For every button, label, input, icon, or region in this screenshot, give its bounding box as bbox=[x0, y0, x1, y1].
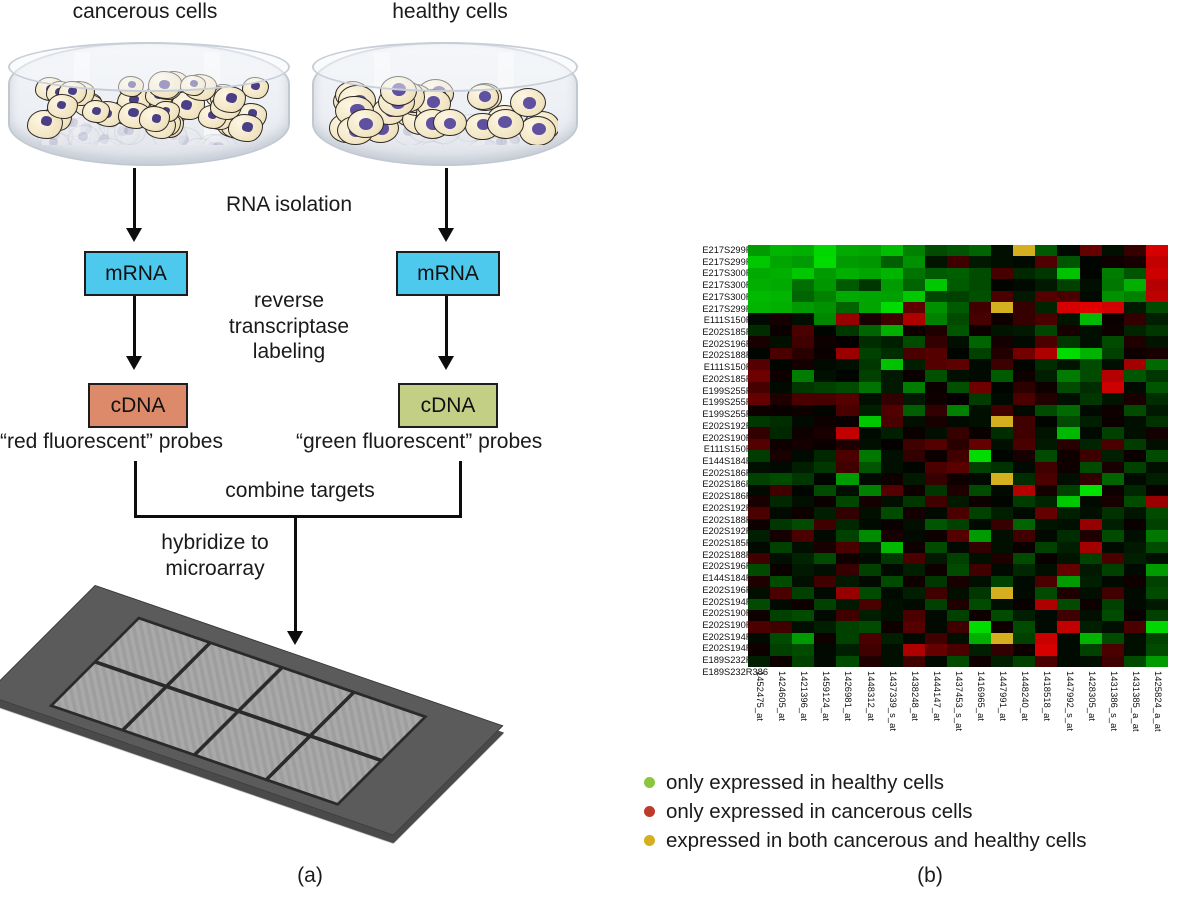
heatmap-cell bbox=[770, 621, 792, 632]
heatmap-cell bbox=[947, 336, 969, 347]
heatmap-cell bbox=[903, 291, 925, 302]
heatmap-cell bbox=[1013, 576, 1035, 587]
heatmap-cell bbox=[1080, 313, 1102, 324]
heatmap-column-label: 1425824_a_at bbox=[1153, 671, 1163, 732]
heatmap-cell bbox=[770, 279, 792, 290]
heatmap-cell bbox=[1080, 439, 1102, 450]
nucleus bbox=[128, 108, 139, 117]
heatmap-cell bbox=[814, 359, 836, 370]
cell bbox=[213, 86, 246, 113]
heatmap-cell bbox=[770, 496, 792, 507]
heatmap-cell bbox=[814, 245, 836, 256]
heatmap-cell bbox=[836, 576, 858, 587]
heatmap-cell bbox=[748, 633, 770, 644]
heatmap-cell bbox=[836, 291, 858, 302]
heatmap-cell bbox=[1124, 370, 1146, 381]
heatmap-cell bbox=[1057, 359, 1079, 370]
heatmap-cell bbox=[814, 256, 836, 267]
heatmap-cell bbox=[881, 370, 903, 381]
heatmap-cell bbox=[947, 553, 969, 564]
heatmap-cell bbox=[1146, 268, 1168, 279]
heatmap-cell bbox=[770, 393, 792, 404]
heatmap-cell bbox=[991, 245, 1013, 256]
heatmap-cell bbox=[991, 519, 1013, 530]
heatmap-cell bbox=[859, 370, 881, 381]
heatmap-cell bbox=[1057, 587, 1079, 598]
heatmap-cell bbox=[925, 416, 947, 427]
heatmap-cell bbox=[1146, 291, 1168, 302]
heatmap-cell bbox=[925, 313, 947, 324]
heatmap-cell bbox=[1057, 427, 1079, 438]
heatmap-cell bbox=[836, 462, 858, 473]
heatmap-cell bbox=[1124, 599, 1146, 610]
heatmap-cell bbox=[925, 496, 947, 507]
heatmap-cell bbox=[1124, 496, 1146, 507]
heatmap-cell bbox=[991, 336, 1013, 347]
heatmap-cell bbox=[748, 656, 770, 667]
heatmap-cell bbox=[1035, 496, 1057, 507]
heatmap-cell bbox=[881, 542, 903, 553]
nucleus bbox=[226, 93, 237, 102]
heatmap-cell bbox=[1146, 279, 1168, 290]
heatmap-cell bbox=[748, 439, 770, 450]
heatmap-cell bbox=[1080, 268, 1102, 279]
heatmap-cell bbox=[748, 485, 770, 496]
heatmap-cell bbox=[859, 439, 881, 450]
heatmap-cell bbox=[748, 599, 770, 610]
heatmap-cell bbox=[1057, 542, 1079, 553]
heatmap-cell bbox=[836, 450, 858, 461]
heatmap-cell bbox=[792, 439, 814, 450]
heatmap-cell bbox=[881, 336, 903, 347]
heatmap-cell bbox=[1124, 291, 1146, 302]
heatmap-cell bbox=[792, 519, 814, 530]
heatmap-cell bbox=[792, 485, 814, 496]
heatmap-cell bbox=[792, 542, 814, 553]
heatmap-cell bbox=[1013, 564, 1035, 575]
microarray-pad-grid bbox=[49, 617, 428, 806]
heatmap-cell bbox=[969, 576, 991, 587]
heatmap-cell bbox=[814, 496, 836, 507]
heatmap-cell bbox=[1102, 279, 1124, 290]
heatmap-cell bbox=[1057, 393, 1079, 404]
arrow-cancer-to-mrna bbox=[133, 168, 136, 230]
nucleus bbox=[41, 116, 52, 126]
heatmap-cell bbox=[814, 644, 836, 655]
heatmap-cell bbox=[836, 621, 858, 632]
heatmap-cell bbox=[969, 656, 991, 667]
heatmap-cell bbox=[925, 473, 947, 484]
heatmap-cell bbox=[1146, 564, 1168, 575]
microarray-slide-body bbox=[0, 585, 503, 836]
heatmap-cell bbox=[1146, 553, 1168, 564]
heatmap-cell bbox=[814, 462, 836, 473]
heatmap-cell bbox=[1080, 553, 1102, 564]
heatmap-cell bbox=[969, 485, 991, 496]
heatmap-cell bbox=[748, 359, 770, 370]
heatmap-cell bbox=[947, 633, 969, 644]
heatmap-cell bbox=[1146, 416, 1168, 427]
heatmap-cell bbox=[859, 245, 881, 256]
heatmap-cell bbox=[925, 633, 947, 644]
heatmap-cell bbox=[792, 473, 814, 484]
heatmap-cell bbox=[1035, 405, 1057, 416]
heatmap-cell bbox=[1035, 359, 1057, 370]
heatmap-cell bbox=[1124, 564, 1146, 575]
heatmap-column-label-slot: 1448240_at bbox=[1013, 669, 1035, 769]
heatmap-column-label: 1459124_at bbox=[821, 671, 831, 721]
heatmap-cell bbox=[859, 542, 881, 553]
heatmap-cell bbox=[1013, 530, 1035, 541]
heatmap-cell bbox=[881, 485, 903, 496]
heatmap-cell bbox=[1124, 462, 1146, 473]
cell bbox=[433, 109, 467, 137]
heatmap-cell bbox=[1035, 576, 1057, 587]
heatmap-cell bbox=[925, 405, 947, 416]
heatmap-cell bbox=[836, 256, 858, 267]
heatmap-cell bbox=[881, 656, 903, 667]
heatmap-cell bbox=[969, 587, 991, 598]
heatmap-cell bbox=[1124, 279, 1146, 290]
heatmap-cell bbox=[1057, 564, 1079, 575]
heatmap-cell bbox=[903, 439, 925, 450]
heatmap-cell bbox=[792, 621, 814, 632]
heatmap-column-label: 1418518_at bbox=[1042, 671, 1052, 721]
combine-bracket-right bbox=[459, 461, 462, 517]
rna-isolation-label: RNA isolation bbox=[194, 192, 384, 218]
heatmap-cell bbox=[1124, 256, 1146, 267]
heatmap-cell bbox=[1146, 245, 1168, 256]
heatmap-cell bbox=[1057, 382, 1079, 393]
heatmap-cell bbox=[925, 279, 947, 290]
heatmap-cell bbox=[814, 633, 836, 644]
heatmap-cell bbox=[991, 450, 1013, 461]
heatmap-cell bbox=[1102, 348, 1124, 359]
heatmap-cell bbox=[947, 485, 969, 496]
heatmap-cell bbox=[748, 382, 770, 393]
heatmap-cell bbox=[991, 496, 1013, 507]
heatmap-cell bbox=[770, 644, 792, 655]
heatmap-cell bbox=[1124, 473, 1146, 484]
cell bbox=[68, 125, 100, 146]
heatmap-cell bbox=[947, 359, 969, 370]
heatmap-cell bbox=[814, 656, 836, 667]
healthy-cells-label: healthy cells bbox=[330, 0, 570, 24]
nucleus bbox=[532, 123, 546, 135]
heatmap-cell bbox=[1102, 336, 1124, 347]
heatmap-cell bbox=[792, 382, 814, 393]
heatmap-cell bbox=[814, 530, 836, 541]
heatmap-cell bbox=[947, 325, 969, 336]
heatmap-cell bbox=[1124, 245, 1146, 256]
heatmap-cell bbox=[814, 473, 836, 484]
heatmap-cell bbox=[1080, 473, 1102, 484]
heatmap-cell bbox=[836, 416, 858, 427]
heatmap-cell bbox=[1035, 370, 1057, 381]
heatmap-cell bbox=[991, 427, 1013, 438]
heatmap-cell bbox=[859, 450, 881, 461]
heatmap-cell bbox=[925, 336, 947, 347]
heatmap-cell bbox=[1124, 519, 1146, 530]
heatmap-cell bbox=[903, 496, 925, 507]
heatmap-cell bbox=[1013, 462, 1035, 473]
heatmap-cell bbox=[1035, 256, 1057, 267]
heatmap-cell bbox=[836, 644, 858, 655]
heatmap-cell bbox=[814, 370, 836, 381]
heatmap-cell bbox=[836, 610, 858, 621]
nucleus bbox=[359, 118, 373, 130]
heatmap-cell bbox=[1035, 633, 1057, 644]
heatmap-cell bbox=[1013, 279, 1035, 290]
heatmap-cell bbox=[792, 610, 814, 621]
cell bbox=[519, 116, 556, 145]
heatmap-cell bbox=[792, 599, 814, 610]
heatmap-cell bbox=[991, 644, 1013, 655]
heatmap-column-label-slot: 1425824_a_at bbox=[1146, 669, 1168, 769]
heatmap-cell bbox=[836, 542, 858, 553]
heatmap-cell bbox=[1013, 416, 1035, 427]
heatmap-cell bbox=[991, 416, 1013, 427]
heatmap-column-label: 1448312_at bbox=[866, 671, 876, 721]
arrow-head bbox=[438, 356, 454, 370]
heatmap-cell bbox=[770, 485, 792, 496]
heatmap-cell bbox=[1124, 530, 1146, 541]
heatmap-cell bbox=[903, 370, 925, 381]
heatmap-cell bbox=[903, 473, 925, 484]
heatmap-cell bbox=[925, 256, 947, 267]
heatmap-cell bbox=[881, 359, 903, 370]
heatmap-column-label-slot: 1428305_at bbox=[1080, 669, 1102, 769]
heatmap-cell bbox=[1080, 359, 1102, 370]
heatmap-cell bbox=[881, 576, 903, 587]
heatmap-cell bbox=[792, 359, 814, 370]
heatmap-cell bbox=[947, 507, 969, 518]
heatmap-cell bbox=[836, 599, 858, 610]
heatmap-cell bbox=[1080, 302, 1102, 313]
heatmap-cell bbox=[1102, 485, 1124, 496]
heatmap-cell bbox=[969, 382, 991, 393]
heatmap-cell bbox=[1013, 507, 1035, 518]
heatmap-cell bbox=[792, 656, 814, 667]
heatmap-column-label: 1437339_s_at bbox=[888, 671, 898, 731]
heatmap-column-label-slot: 1452475_at bbox=[748, 669, 770, 769]
heatmap-cell bbox=[792, 633, 814, 644]
heatmap-cell bbox=[969, 496, 991, 507]
heatmap-cell bbox=[792, 268, 814, 279]
heatmap-cell bbox=[903, 256, 925, 267]
heatmap-cell bbox=[1080, 587, 1102, 598]
heatmap-cell bbox=[925, 519, 947, 530]
heatmap-cell bbox=[969, 473, 991, 484]
heatmap-cell bbox=[859, 633, 881, 644]
heatmap-cell bbox=[925, 507, 947, 518]
heatmap-column-label-slot: 1447992_s_at bbox=[1057, 669, 1079, 769]
heatmap-cell bbox=[770, 336, 792, 347]
heatmap-cell bbox=[881, 496, 903, 507]
petri-dish-cancerous bbox=[8, 42, 286, 162]
heatmap-cell bbox=[1080, 621, 1102, 632]
cell bbox=[47, 94, 77, 119]
heatmap-cell bbox=[925, 393, 947, 404]
heatmap-cell bbox=[770, 473, 792, 484]
heatmap-cell bbox=[814, 325, 836, 336]
heatmap-cell bbox=[947, 462, 969, 473]
heatmap-cell bbox=[1013, 427, 1035, 438]
heatmap-cell bbox=[1146, 427, 1168, 438]
heatmap-cell bbox=[903, 313, 925, 324]
heatmap-cell bbox=[836, 427, 858, 438]
heatmap-cell bbox=[925, 302, 947, 313]
heatmap-cell bbox=[792, 313, 814, 324]
heatmap-column-label-slot: 1448312_at bbox=[859, 669, 881, 769]
heatmap-cell bbox=[1124, 542, 1146, 553]
heatmap-cell bbox=[814, 553, 836, 564]
heatmap-cell bbox=[859, 268, 881, 279]
heatmap-cell bbox=[1035, 564, 1057, 575]
heatmap-column-label: 1431385_a_at bbox=[1131, 671, 1141, 732]
heatmap-cell bbox=[969, 302, 991, 313]
heatmap-cell bbox=[969, 507, 991, 518]
heatmap-cell bbox=[814, 405, 836, 416]
heatmap-cell bbox=[1080, 245, 1102, 256]
heatmap-cell bbox=[1080, 644, 1102, 655]
heatmap-cell bbox=[969, 256, 991, 267]
heatmap-cell bbox=[792, 450, 814, 461]
heatmap-cell bbox=[792, 462, 814, 473]
heatmap-cell bbox=[1080, 325, 1102, 336]
heatmap-cell bbox=[969, 439, 991, 450]
heatmap-cell bbox=[1035, 621, 1057, 632]
heatmap-cell bbox=[903, 359, 925, 370]
heatmap-cell bbox=[1057, 633, 1079, 644]
heatmap-cell bbox=[1057, 507, 1079, 518]
heatmap-cell bbox=[947, 496, 969, 507]
heatmap-cell bbox=[1146, 473, 1168, 484]
heatmap-cell bbox=[1080, 530, 1102, 541]
heatmap-cell bbox=[947, 427, 969, 438]
heatmap-cell bbox=[748, 462, 770, 473]
heatmap-cell bbox=[814, 336, 836, 347]
heatmap-cell bbox=[925, 245, 947, 256]
heatmap-cell bbox=[903, 656, 925, 667]
heatmap-cell bbox=[1124, 439, 1146, 450]
heatmap-panel: E217S299R783E217S299R784E217S300R787E217… bbox=[620, 0, 1192, 898]
heatmap-cell bbox=[859, 485, 881, 496]
heatmap-cell bbox=[1102, 370, 1124, 381]
heatmap-cell bbox=[1080, 485, 1102, 496]
heatmap-cell bbox=[792, 416, 814, 427]
heatmap-cell bbox=[859, 530, 881, 541]
heatmap-column-label: 1426981_at bbox=[843, 671, 853, 721]
heatmap-cell bbox=[969, 542, 991, 553]
heatmap-column-label: 1447992_s_at bbox=[1065, 671, 1075, 731]
nucleus bbox=[181, 100, 192, 110]
heatmap-cell bbox=[814, 302, 836, 313]
heatmap-cell bbox=[1080, 450, 1102, 461]
heatmap-cell bbox=[903, 576, 925, 587]
heatmap-cell bbox=[881, 427, 903, 438]
heatmap-cell bbox=[1013, 621, 1035, 632]
heatmap-cell bbox=[770, 576, 792, 587]
heatmap-cell bbox=[836, 313, 858, 324]
heatmap-cell bbox=[1080, 633, 1102, 644]
heatmap-cell bbox=[836, 587, 858, 598]
heatmap-cell bbox=[859, 507, 881, 518]
heatmap-cell bbox=[903, 644, 925, 655]
heatmap-cell bbox=[859, 576, 881, 587]
heatmap-cell bbox=[859, 564, 881, 575]
heatmap-cell bbox=[770, 427, 792, 438]
heatmap-cell bbox=[792, 348, 814, 359]
heatmap-column-label-slot: 1447991_at bbox=[991, 669, 1013, 769]
heatmap-cell bbox=[881, 279, 903, 290]
heatmap-cell bbox=[903, 599, 925, 610]
nucleus bbox=[427, 96, 440, 108]
heatmap-column-label-slot: 1438248_at bbox=[903, 669, 925, 769]
heatmap-cell bbox=[836, 302, 858, 313]
heatmap-cell bbox=[925, 348, 947, 359]
legend-item: only expressed in cancerous cells bbox=[644, 797, 1087, 826]
heatmap-column-label-slot: 1431386_s_at bbox=[1102, 669, 1124, 769]
heatmap-cell bbox=[925, 542, 947, 553]
heatmap-cell bbox=[1102, 302, 1124, 313]
heatmap-cell bbox=[859, 599, 881, 610]
heatmap-cell bbox=[1080, 519, 1102, 530]
heatmap-cell bbox=[1057, 656, 1079, 667]
heatmap-cell bbox=[1102, 644, 1124, 655]
heatmap-cell bbox=[925, 291, 947, 302]
heatmap-cell bbox=[881, 416, 903, 427]
heatmap-cell bbox=[1102, 473, 1124, 484]
heatmap-cell bbox=[1013, 336, 1035, 347]
heatmap-cell bbox=[969, 564, 991, 575]
heatmap-cell bbox=[814, 450, 836, 461]
heatmap-cell bbox=[1146, 621, 1168, 632]
heatmap-cell bbox=[1035, 268, 1057, 279]
heatmap-cell bbox=[748, 336, 770, 347]
legend-item: only expressed in healthy cells bbox=[644, 768, 1087, 797]
heatmap-cell bbox=[947, 291, 969, 302]
heatmap-cell bbox=[1102, 599, 1124, 610]
heatmap-cell bbox=[859, 405, 881, 416]
heatmap-cell bbox=[859, 313, 881, 324]
heatmap-column-label: 1424605_at bbox=[777, 671, 787, 721]
heatmap-cell bbox=[969, 245, 991, 256]
heatmap-cell bbox=[969, 599, 991, 610]
heatmap-cell bbox=[1013, 393, 1035, 404]
heatmap-cell bbox=[770, 382, 792, 393]
heatmap-column-label-slot: 1431385_a_at bbox=[1124, 669, 1146, 769]
heatmap-cell bbox=[881, 325, 903, 336]
heatmap-cell bbox=[1080, 348, 1102, 359]
heatmap-column-label: 1416965_at bbox=[976, 671, 986, 721]
heatmap-cell bbox=[1057, 530, 1079, 541]
heatmap-cell bbox=[859, 644, 881, 655]
heatmap-cell bbox=[947, 279, 969, 290]
heatmap-cell bbox=[1124, 348, 1146, 359]
heatmap-cell bbox=[991, 542, 1013, 553]
heatmap-cell bbox=[881, 644, 903, 655]
heatmap-cell bbox=[1146, 370, 1168, 381]
green-probe-label: “green fluorescent” probes bbox=[296, 430, 542, 454]
heatmap-cell bbox=[836, 325, 858, 336]
heatmap-cell bbox=[836, 268, 858, 279]
heatmap-cell bbox=[836, 359, 858, 370]
arrow-head bbox=[126, 356, 142, 370]
heatmap-cell bbox=[947, 405, 969, 416]
heatmap-cell bbox=[1102, 427, 1124, 438]
heatmap-cell bbox=[1146, 644, 1168, 655]
